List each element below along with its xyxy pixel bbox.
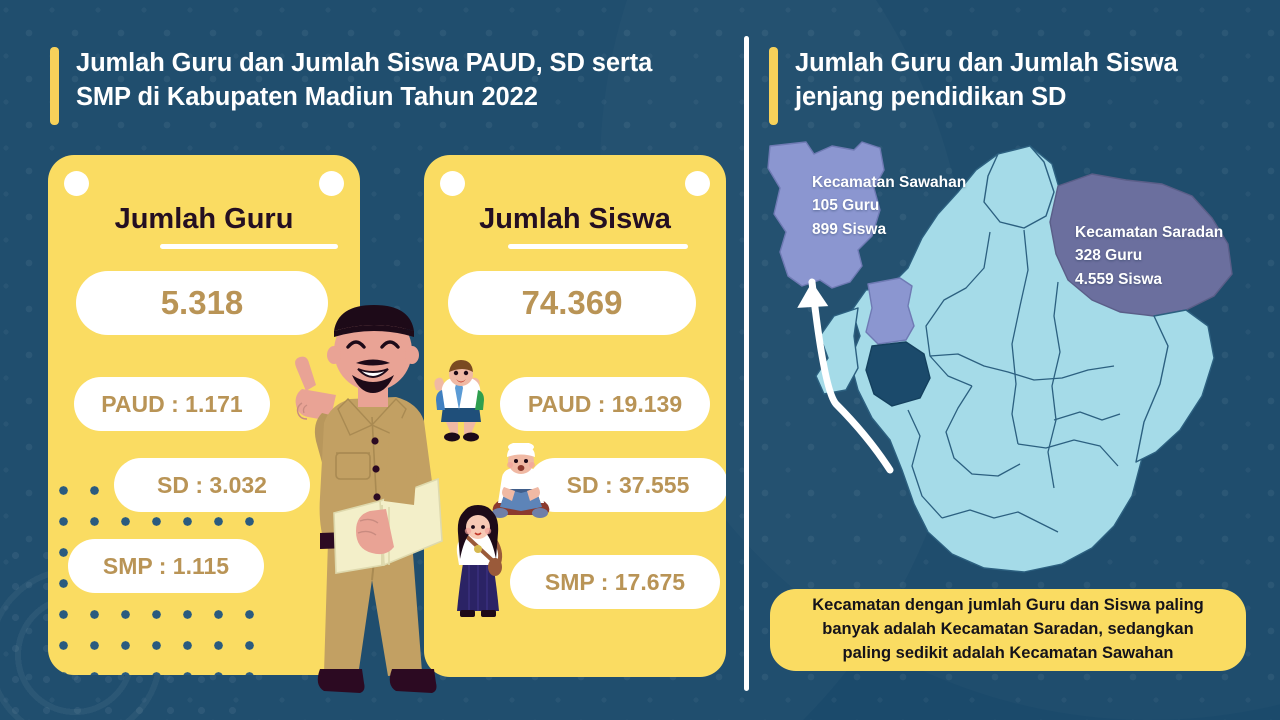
title-accent-bar	[769, 47, 778, 125]
guru-breakdown-smp: SMP : 1.115	[68, 539, 264, 593]
infographic-page: Jumlah Guru dan Jumlah Siswa PAUD, SD se…	[0, 0, 1280, 720]
card-heading-guru: Jumlah Guru	[48, 203, 360, 236]
boy-student-illustration	[430, 360, 492, 442]
map-region-sawahan	[866, 278, 914, 344]
right-panel-title: Jumlah Guru dan Jumlah Siswa jenjang pen…	[769, 47, 1239, 125]
siswa-breakdown-sd: SD : 37.555	[528, 458, 726, 512]
left-panel-title-text: Jumlah Guru dan Jumlah Siswa PAUD, SD se…	[76, 47, 652, 125]
siswa-breakdown-smp: SMP : 17.675	[510, 555, 720, 609]
girl-student-illustration	[447, 505, 509, 623]
card-heading-rule	[508, 244, 688, 249]
map-label-saradan: Kecamatan Saradan 328 Guru 4.559 Siswa	[1075, 221, 1223, 291]
punch-hole-icon	[685, 171, 710, 196]
punch-hole-icon	[319, 171, 344, 196]
map-label-sawahan: Kecamatan Sawahan 105 Guru 899 Siswa	[812, 171, 966, 241]
summary-note-box: Kecamatan dengan jumlah Guru dan Siswa p…	[770, 589, 1246, 671]
right-panel-title-text: Jumlah Guru dan Jumlah Siswa jenjang pen…	[795, 47, 1178, 125]
title-accent-bar	[50, 47, 59, 125]
punch-hole-icon	[440, 171, 465, 196]
guru-breakdown-paud: PAUD : 1.171	[74, 377, 270, 431]
siswa-breakdown-paud: PAUD : 19.139	[500, 377, 710, 431]
card-heading-siswa: Jumlah Siswa	[424, 203, 726, 236]
summary-note-text: Kecamatan dengan jumlah Guru dan Siswa p…	[812, 594, 1204, 666]
punch-hole-icon	[64, 171, 89, 196]
card-heading-rule	[160, 244, 338, 249]
panel-divider	[744, 36, 749, 691]
left-panel-title: Jumlah Guru dan Jumlah Siswa PAUD, SD se…	[50, 47, 730, 125]
